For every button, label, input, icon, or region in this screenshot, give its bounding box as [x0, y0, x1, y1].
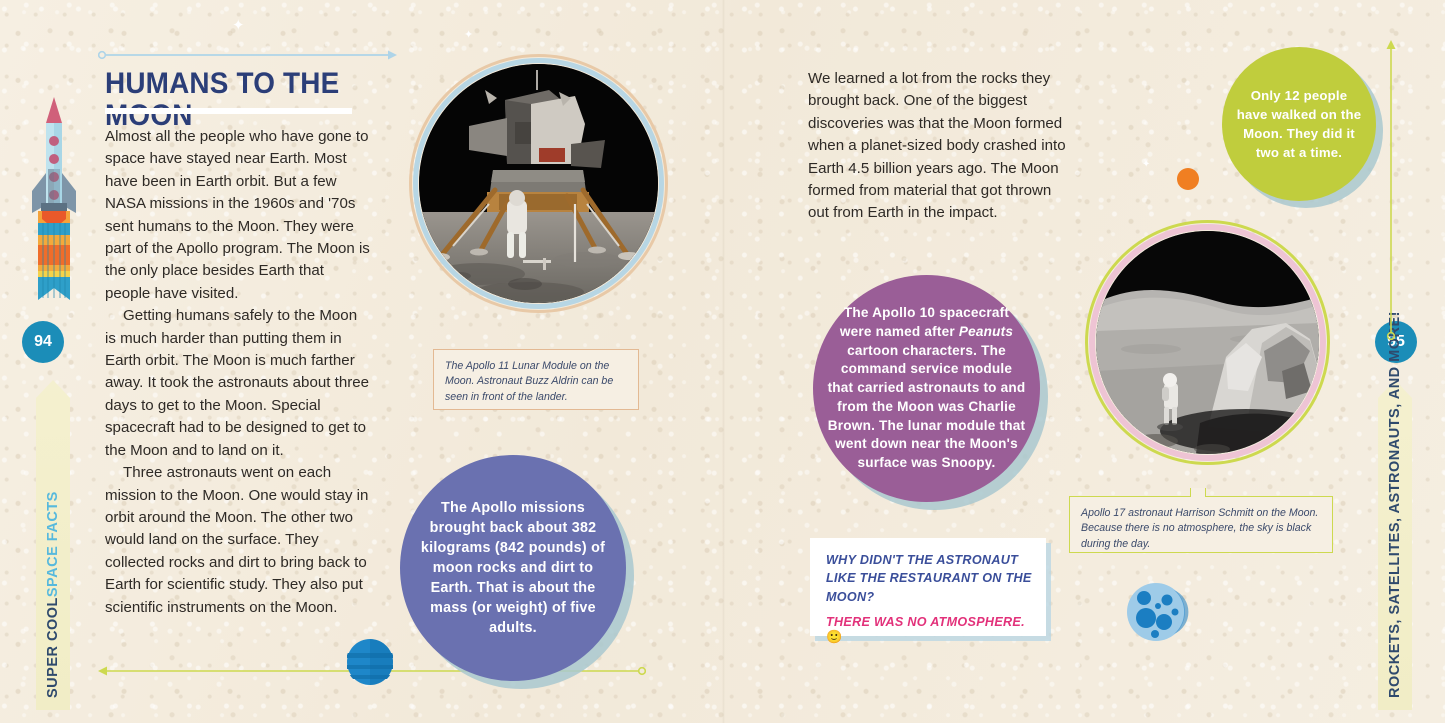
right-tab-label: ROCKETS, SATELLITES, ASTRONAUTS, AND MOR…	[1387, 311, 1403, 698]
fact-bubble-apollo10-peanuts: The Apollo 10 spacecraft were named afte…	[813, 275, 1040, 502]
photo-lunar-module	[419, 64, 658, 303]
paragraph: Three astronauts went on each mission to…	[105, 462, 371, 619]
joke-box: WHY DIDN'T THE ASTRONAUT LIKE THE RESTAU…	[810, 538, 1046, 636]
page-gutter	[722, 0, 725, 723]
dotted-moon-icon	[1122, 578, 1190, 646]
star-icon: ✦	[464, 30, 473, 41]
caption-apollo17-text: Apollo 17 astronaut Harrison Schmitt on …	[1081, 507, 1318, 550]
paragraph: Almost all the people who have gone to s…	[105, 126, 371, 305]
left-tab-label-part1: SUPER COOL	[45, 597, 61, 698]
left-section-tab: SUPER COOL SPACE FACTS	[36, 380, 70, 710]
left-tab-text: SUPER COOL SPACE FACTS	[36, 380, 70, 710]
page-number-left: 94	[22, 321, 64, 363]
rocket-illustration	[24, 95, 84, 310]
page-title: HUMANS TO THE MOON	[105, 68, 356, 131]
title-underline-rule	[105, 108, 352, 114]
right-tab-text: ROCKETS, SATELLITES, ASTRONAUTS, AND MOR…	[1378, 380, 1412, 710]
left-tab-label-part2: SPACE FACTS	[45, 491, 61, 597]
caption-apollo17: Apollo 17 astronaut Harrison Schmitt on …	[1069, 496, 1333, 553]
bubble-text-italic: Peanuts	[959, 324, 1013, 339]
body-text-right-column: We learned a lot from the rocks they bro…	[808, 68, 1066, 225]
paragraph: Getting humans safely to the Moon is muc…	[105, 305, 371, 462]
joke-answer: THERE WAS NO ATMOSPHERE. 🙂	[826, 615, 1032, 645]
body-text-left-column: Almost all the people who have gone to s…	[105, 126, 371, 619]
decorative-arrow-right	[1384, 40, 1398, 340]
joke-answer-text: THERE WAS NO ATMOSPHERE.	[826, 615, 1025, 629]
orange-dot-icon	[1177, 168, 1199, 190]
caption-lunar-module: The Apollo 11 Lunar Module on the Moon. …	[433, 349, 639, 410]
joke-question: WHY DIDN'T THE ASTRONAUT LIKE THE RESTAU…	[826, 551, 1032, 606]
fact-bubble-twelve-people: Only 12 people have walked on the Moon. …	[1222, 47, 1376, 201]
star-icon: ✦	[1142, 160, 1150, 170]
smiley-icon: 🙂	[826, 629, 843, 644]
striped-planet-icon	[346, 638, 394, 686]
bubble-text-part2: cartoon characters. The command service …	[828, 343, 1026, 471]
caption-pointer-tail	[1190, 488, 1206, 497]
decorative-arrow-top	[98, 48, 398, 62]
fact-bubble-apollo-rocks: The Apollo missions brought back about 3…	[400, 455, 626, 681]
right-section-tab: ROCKETS, SATELLITES, ASTRONAUTS, AND MOR…	[1378, 380, 1412, 710]
paragraph: We learned a lot from the rocks they bro…	[808, 68, 1066, 225]
star-icon: ✦	[232, 18, 245, 33]
photo-apollo17-schmitt	[1096, 231, 1319, 454]
